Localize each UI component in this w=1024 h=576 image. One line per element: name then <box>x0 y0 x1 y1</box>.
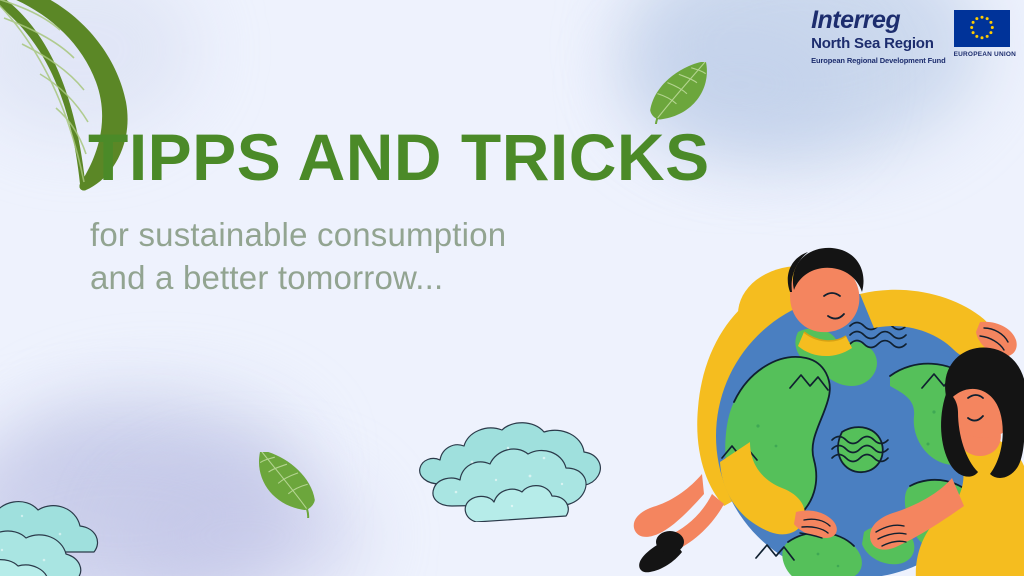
page-subtitle: for sustainable consumption and a better… <box>90 214 506 300</box>
interreg-logo: Interreg North Sea Region European Regio… <box>811 6 1016 65</box>
interreg-fund: European Regional Development Fund <box>811 56 946 65</box>
interreg-name: Interreg <box>811 8 946 33</box>
leaf-icon <box>640 62 724 124</box>
cloud-icon <box>0 476 152 576</box>
page-title: TIPPS AND TRICKS <box>88 124 710 190</box>
interreg-programme: North Sea Region <box>811 35 946 54</box>
eu-flag-icon <box>954 10 1010 47</box>
cloud-icon <box>412 418 608 522</box>
people-hugging-earth-illustration <box>628 236 1024 576</box>
leaf-icon <box>240 452 326 518</box>
slide-canvas: TIPPS AND TRICKS for sustainable consump… <box>0 0 1024 576</box>
eu-caption: EUROPEAN UNION <box>954 51 1016 58</box>
interreg-wordmark: Interreg North Sea Region European Regio… <box>811 6 946 65</box>
eu-emblem: EUROPEAN UNION <box>954 6 1016 58</box>
